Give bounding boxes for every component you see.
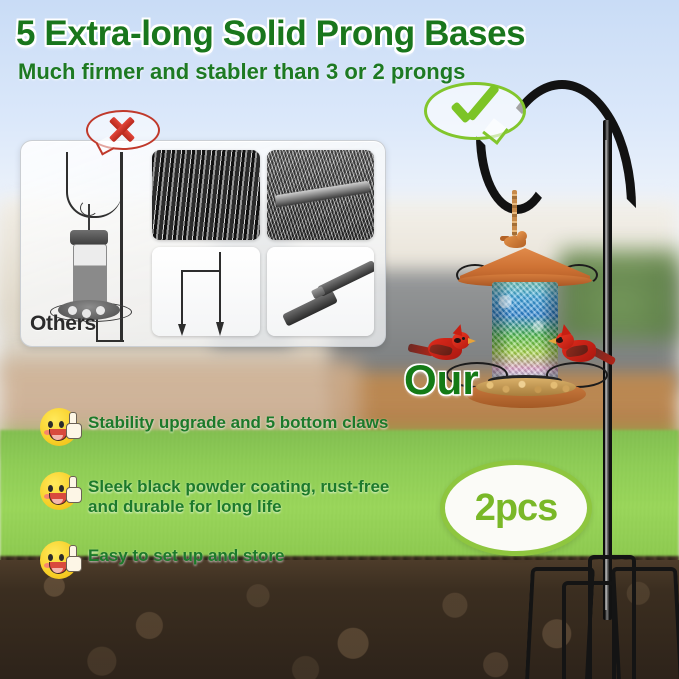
cardinal-left-mask — [454, 338, 461, 343]
page-title: 5 Extra-long Solid Prong Bases — [16, 14, 666, 54]
smiley-eye-left — [48, 421, 53, 428]
others-label: Others — [30, 312, 96, 336]
pole-segment-lower — [282, 290, 338, 326]
thumb-fist — [66, 423, 82, 439]
smiley-eye-right — [59, 421, 64, 428]
feeder-bird-finial — [500, 230, 530, 250]
feeder-birdseed — [476, 378, 576, 396]
product-infographic: 5 Extra-long Solid Prong Bases Much firm… — [0, 0, 679, 679]
others-feeder-jar — [73, 244, 107, 306]
our-label: Our — [404, 356, 479, 404]
benefit-item-1: Stability upgrade and 5 bottom claws — [40, 406, 460, 448]
smiley-thumbs-up-icon — [40, 470, 82, 512]
prong-leg-left — [181, 270, 183, 330]
quantity-badge-label: 2pcs — [475, 487, 558, 530]
cardinal-left-beak — [468, 338, 476, 344]
thumbs-up-hand — [66, 545, 81, 571]
benefit-text-3: Easy to set up and store — [88, 539, 285, 566]
others-hanger-wire — [88, 204, 90, 232]
others-feeder-port-3 — [96, 306, 105, 315]
benefit-text-1: Stability upgrade and 5 bottom claws — [88, 406, 388, 433]
smiley-eye-left — [48, 485, 53, 492]
benefit-text-2: Sleek black powder coating, rust-free an… — [88, 470, 389, 517]
check-mark-glyph — [446, 84, 502, 130]
smiley-thumbs-up-icon — [40, 406, 82, 448]
finial-head — [517, 231, 527, 241]
prong-tip-right — [216, 322, 224, 336]
red-x-icon — [86, 110, 156, 152]
cardinal-right-eye — [559, 337, 562, 340]
thumb-fist — [66, 556, 82, 572]
cardinal-right-beak — [548, 338, 556, 344]
benefits-list: Stability upgrade and 5 bottom claws Sle… — [40, 406, 460, 603]
thumb-fist — [66, 487, 82, 503]
five-prong-base — [522, 545, 679, 679]
benefit-item-3: Easy to set up and store — [40, 539, 460, 581]
feeder-tube-shading — [492, 282, 558, 380]
page-subtitle: Much firmer and stabler than 3 or 2 pron… — [18, 59, 668, 85]
thumbs-up-hand — [66, 412, 81, 438]
smiley-thumbs-up-icon — [40, 539, 82, 581]
rusted-pole-in-grass-photo — [267, 150, 375, 240]
cardinal-right-crest — [559, 323, 571, 336]
two-prong-drawing — [169, 252, 243, 330]
two-prong-base-diagram — [152, 247, 260, 337]
pole-segment-upper — [317, 260, 374, 297]
others-feeder-cap — [70, 230, 108, 245]
prong-tip-left — [178, 324, 186, 336]
benefit-item-2: Sleek black powder coating, rust-free an… — [40, 470, 460, 517]
thumbs-up-hand — [66, 476, 81, 502]
smiley-eye-right — [59, 554, 64, 561]
smiley-eye-left — [48, 554, 53, 561]
cardinal-right — [552, 330, 616, 366]
prong-leg-right — [219, 252, 221, 330]
quantity-badge: 2pcs — [440, 460, 592, 556]
others-thumbnail-grid — [152, 150, 374, 336]
x-mark-glyph — [104, 116, 138, 140]
prong-crossbar — [181, 270, 221, 272]
smiley-eye-right — [59, 485, 64, 492]
thin-pole-segments-photo — [267, 247, 375, 337]
green-check-icon — [424, 82, 520, 144]
prong-4 — [611, 567, 679, 679]
cardinal-left-eye — [462, 337, 465, 340]
rusty-rods-photo — [152, 150, 260, 240]
